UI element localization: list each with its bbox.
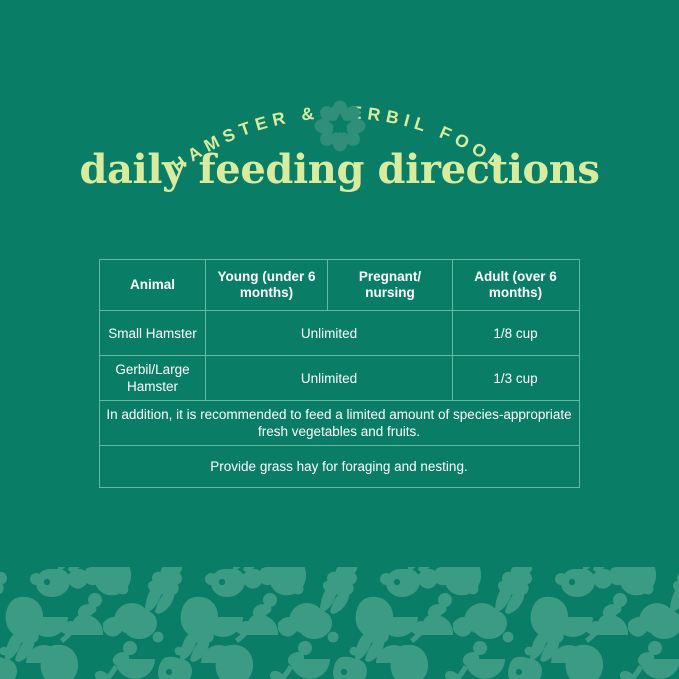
table-header-row: Animal Young (under 6 months) Pregnant/ …: [100, 260, 579, 310]
column-header-young: Young (under 6 months): [205, 260, 327, 310]
feeding-table: Animal Young (under 6 months) Pregnant/ …: [99, 259, 580, 488]
table-row: Gerbil/Large Hamster Unlimited 1/3 cup: [100, 355, 579, 400]
column-header-pregnant: Pregnant/ nursing: [327, 260, 452, 310]
table-row: Small Hamster Unlimited 1/8 cup: [100, 310, 579, 355]
column-header-adult: Adult (over 6 months): [452, 260, 578, 310]
page-title: daily feeding directions: [0, 144, 679, 196]
poster: HAMSTER & GERBIL FOOD: [0, 0, 679, 679]
cell-adult: 1/3 cup: [452, 356, 578, 400]
botanical-rabbit-pattern: [0, 567, 679, 679]
cell-animal: Small Hamster: [100, 311, 205, 355]
column-header-animal: Animal: [100, 260, 205, 310]
cell-young-pregnant: Unlimited: [205, 356, 452, 400]
table-note-row: Provide grass hay for foraging and nesti…: [100, 445, 579, 487]
table-note-row: In addition, it is recommended to feed a…: [100, 400, 579, 445]
cell-adult: 1/8 cup: [452, 311, 578, 355]
table-note-hay: Provide grass hay for foraging and nesti…: [100, 446, 578, 487]
cell-animal: Gerbil/Large Hamster: [100, 356, 205, 400]
table-note-vegetables: In addition, it is recommended to feed a…: [100, 401, 578, 445]
cell-young-pregnant: Unlimited: [205, 311, 452, 355]
